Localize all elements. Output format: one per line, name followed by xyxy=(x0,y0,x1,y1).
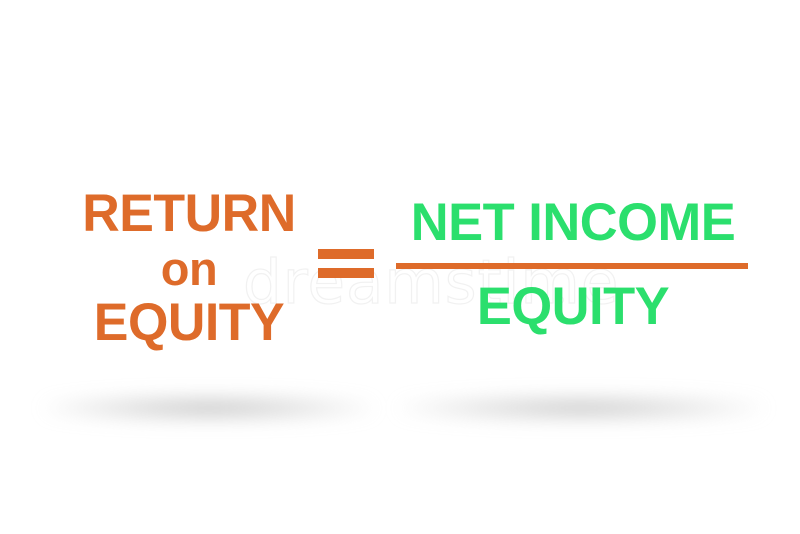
left-line-equity: EQUITY xyxy=(61,295,318,351)
drop-shadow-right xyxy=(398,396,764,420)
drop-shadow-left xyxy=(44,396,374,420)
formula-right-side: NET INCOME EQUITY xyxy=(396,194,750,335)
equals-sign-icon xyxy=(318,249,374,279)
fraction-numerator: NET INCOME xyxy=(398,194,748,251)
formula-illustration: dreamstime RETURN on EQUITY NET INCOME E… xyxy=(0,0,800,534)
left-line-on: on xyxy=(58,242,320,295)
equals-bar-bottom xyxy=(318,268,374,278)
equals-bar-top xyxy=(318,249,374,259)
fraction-denominator: EQUITY xyxy=(398,278,748,335)
formula-left-side: RETURN on EQUITY xyxy=(58,186,320,351)
left-line-return: RETURN xyxy=(61,186,318,242)
fraction-bar xyxy=(396,263,748,269)
